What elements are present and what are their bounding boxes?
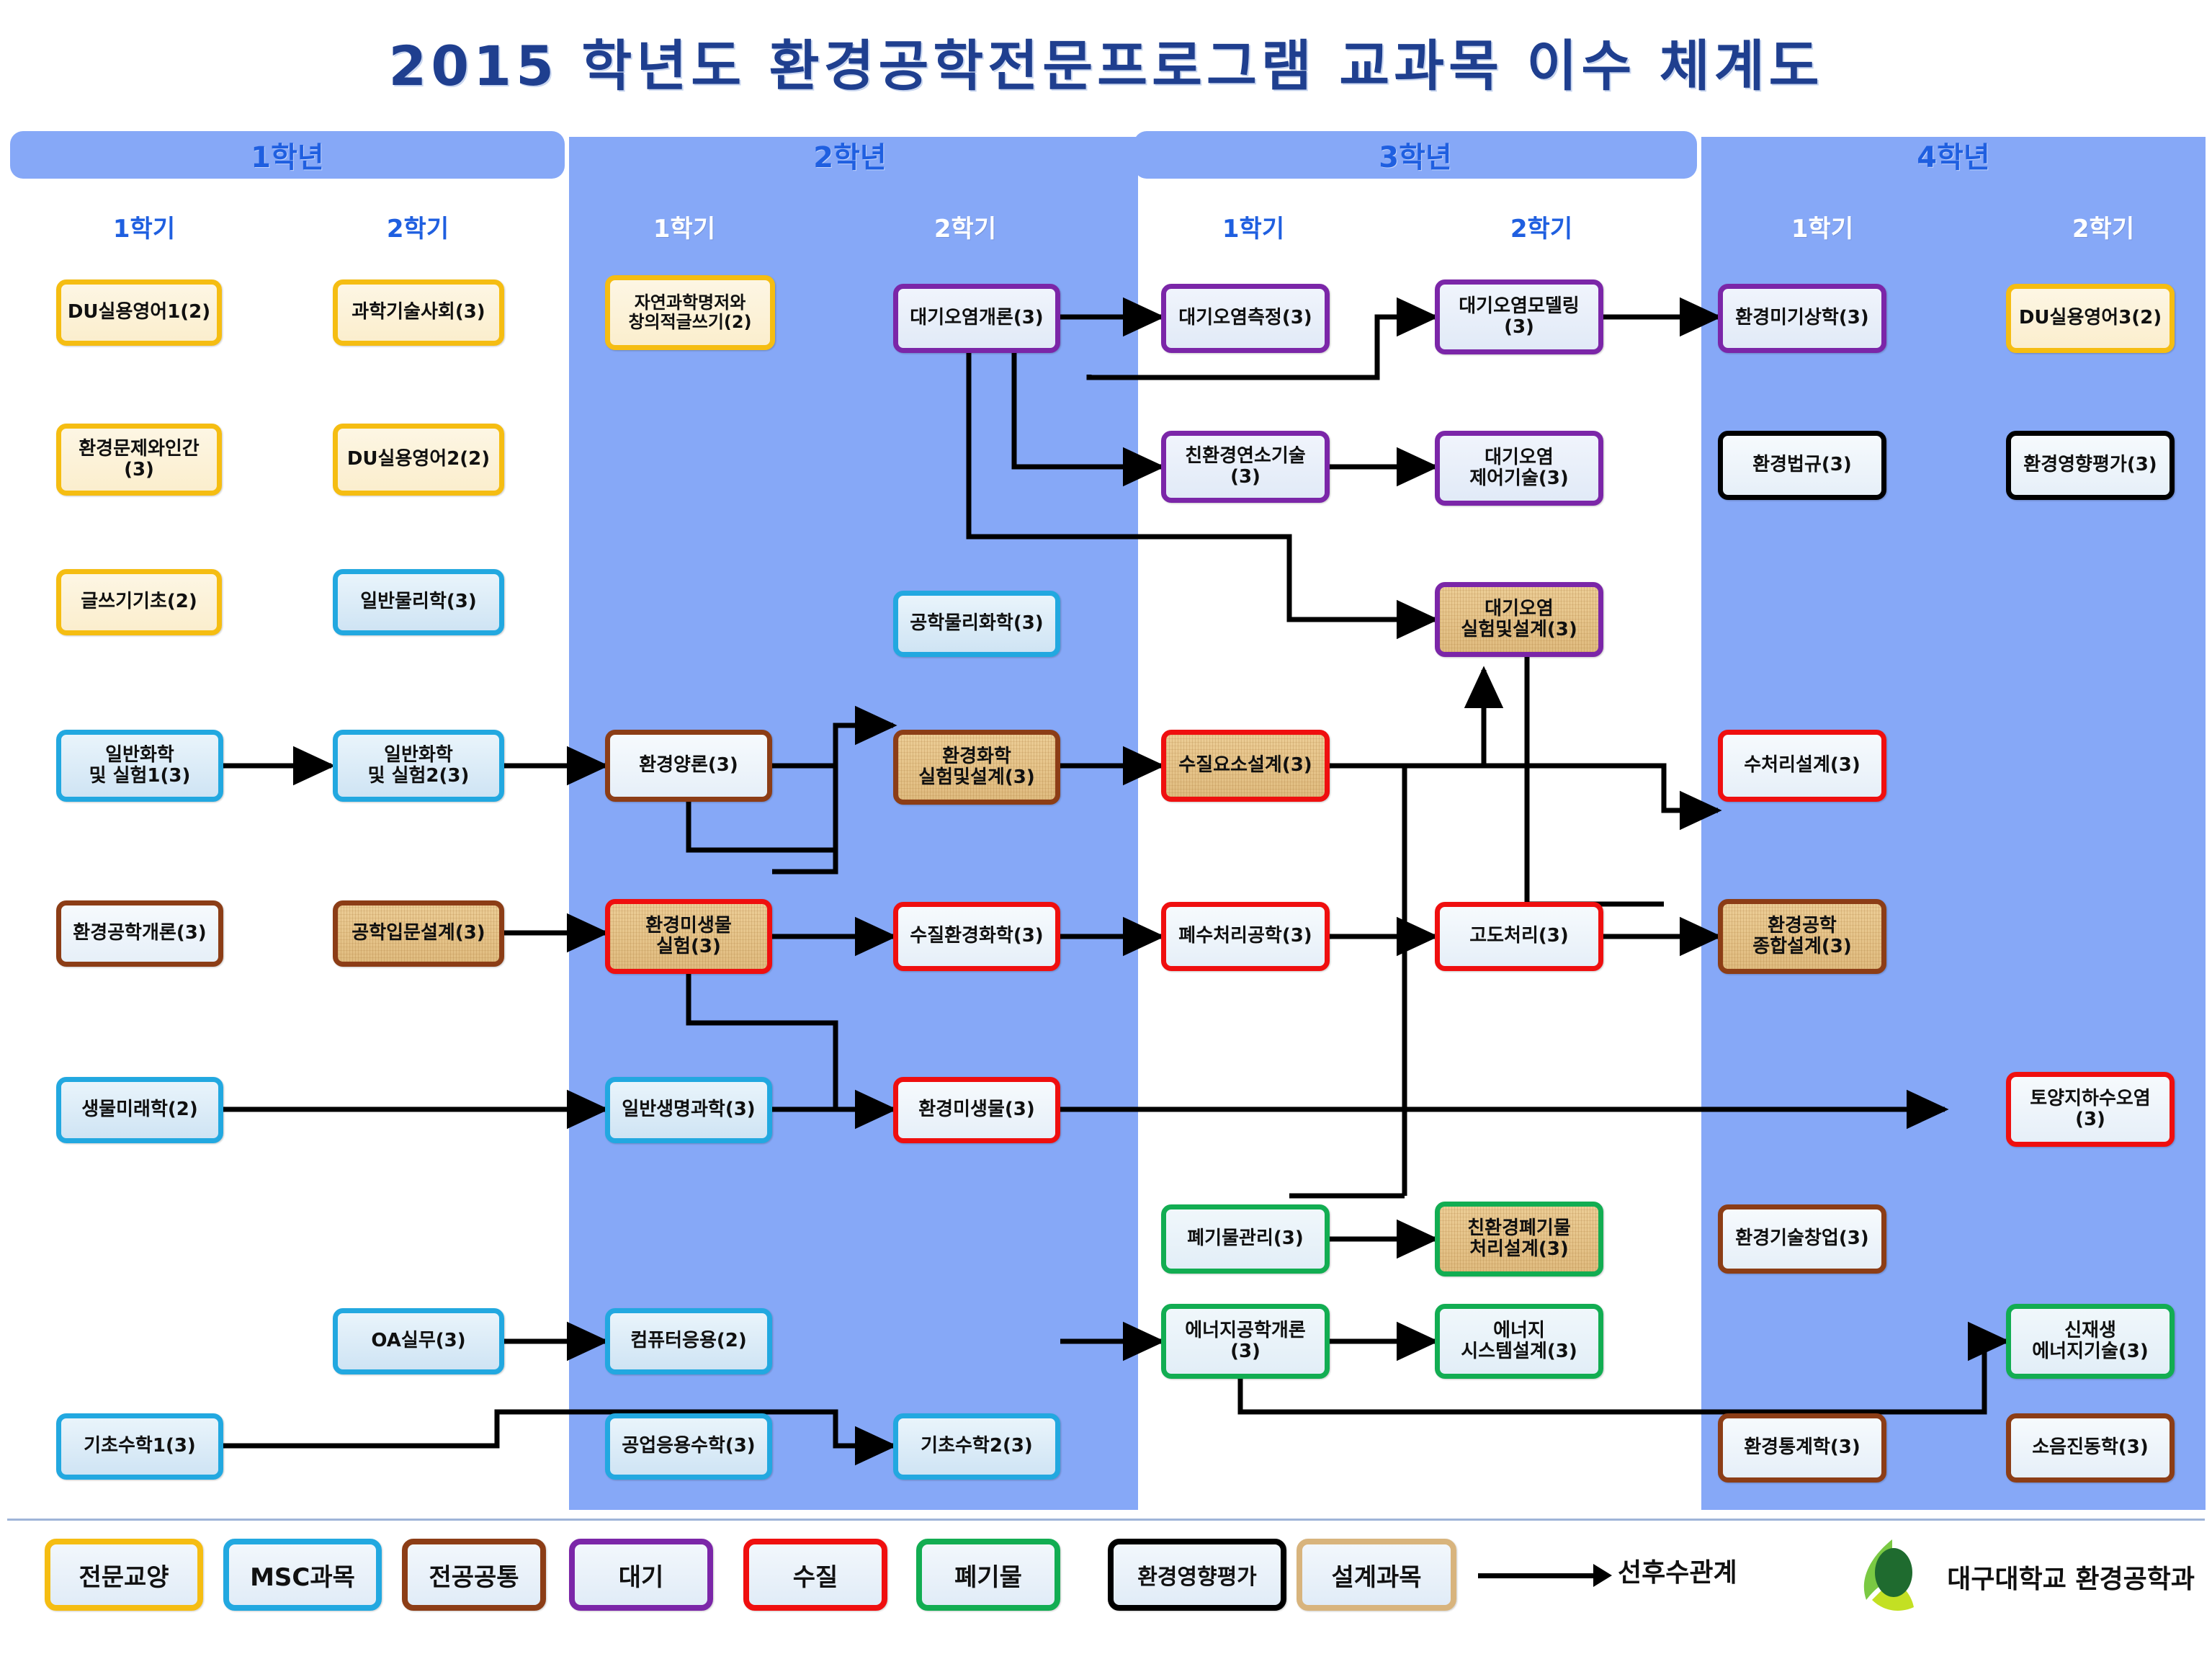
year-header-2: 2학년 [569,131,1131,179]
legend-chip-waste[interactable]: 폐기물 [916,1539,1060,1611]
course-box-water-treatment-design[interactable]: 수처리설계(3) [1718,730,1886,802]
year-header-3-label: 3학년 [1379,134,1451,176]
semester-label-y1s1-text: 1학기 [113,215,175,243]
course-box-intro-engineering-design[interactable]: 공학입문설계(3) [333,900,504,967]
course-label: 에너지공학개론 (3) [1185,1320,1305,1362]
course-box-advanced-treatment[interactable]: 고도처리(3) [1435,902,1603,971]
course-label: 환경미기상학(3) [1735,308,1868,328]
course-label: 수질환경화학(3) [910,926,1043,947]
year-header-4-label: 4학년 [1917,134,1989,176]
course-box-air-pollution-control-technology[interactable]: 대기오염 제어기술(3) [1435,431,1603,506]
course-label: 생물미래학(2) [81,1099,197,1120]
course-label: 고도처리(3) [1469,926,1569,947]
legend: 전문교양 MSC과목 전공공통 대기 수질 폐기물 환경영향평가 설계과목 선후… [0,1533,2212,1648]
curriculum-flowchart-page: 2015 학년도 환경공학전문프로그램 교과목 이수 체계도 1학년 2학년 3… [0,0,2212,1659]
course-box-general-chemistry-lab-1[interactable]: 일반화학 및 실험1(3) [56,730,223,802]
course-box-env-microbiology[interactable]: 환경미생물(3) [893,1077,1060,1143]
course-box-natural-science-classics-writing[interactable]: 자연과학명저와 창의적글쓰기(2) [605,275,775,350]
semester-label-y1s2-text: 2학기 [387,215,449,243]
semester-label-y3s1: 1학기 [1145,209,1361,244]
course-label: 에너지 시스템설계(3) [1461,1320,1577,1362]
course-box-intro-air-pollution[interactable]: 대기오염개론(3) [893,284,1060,353]
semester-label-y2s2-text: 2학기 [934,215,996,243]
course-box-eco-combustion-technology[interactable]: 친환경연소기술 (3) [1161,431,1330,503]
course-label: 폐수처리공학(3) [1178,926,1312,947]
course-label: 일반화학 및 실험2(3) [368,745,470,787]
course-label: 환경화학 실험및설계(3) [918,746,1034,788]
course-label: 환경기술창업(3) [1735,1228,1868,1249]
course-label: 환경공학 종합설계(3) [1752,916,1852,957]
course-label: 환경영향평가(3) [2023,455,2157,475]
course-box-oa-practice[interactable]: OA실무(3) [333,1308,504,1374]
semester-label-y2s1-text: 1학기 [653,215,715,243]
course-label: 소음진동학(3) [2032,1437,2148,1458]
semester-label-y4s1-text: 1학기 [1791,215,1853,243]
course-label: 신재생 에너지기술(3) [2032,1320,2148,1362]
legend-chip-water[interactable]: 수질 [743,1539,887,1611]
course-label: 대기오염모델링 (3) [1459,296,1579,338]
course-label: 친환경폐기물 처리설계(3) [1467,1218,1571,1260]
legend-divider [7,1519,2205,1521]
course-box-du-english-2[interactable]: DU실용영어2(2) [333,424,504,496]
semester-label-y1s2: 2학기 [310,209,526,244]
year-header-2-label: 2학년 [813,134,886,176]
course-label: 환경공학개론(3) [73,923,206,944]
year-header-3: 3학년 [1134,131,1697,179]
brand-label: 대구대학교 환경공학과 [1947,1558,2195,1596]
course-box-air-pollution-measurement[interactable]: 대기오염측정(3) [1161,284,1330,353]
semester-label-y2s2: 2학기 [857,209,1073,244]
course-box-basic-math-2[interactable]: 기초수학2(3) [893,1413,1060,1480]
semester-label-y3s1-text: 1학기 [1222,215,1284,243]
course-box-waste-management[interactable]: 폐기물관리(3) [1161,1204,1330,1274]
course-box-biology-future[interactable]: 생물미래학(2) [56,1077,223,1143]
course-label: 일반화학 및 실험1(3) [89,745,191,787]
semester-label-y2s1: 1학기 [576,209,792,244]
semester-label-y3s2: 2학기 [1433,209,1649,244]
course-label: 컴퓨터응용(2) [630,1331,746,1351]
course-box-general-life-science[interactable]: 일반생명과학(3) [605,1077,772,1143]
legend-chip-label: 수질 [793,1557,838,1593]
course-box-du-english-1[interactable]: DU실용영어1(2) [56,280,222,346]
legend-arrow-head-icon [1593,1564,1612,1587]
legend-chip-label: 전공공통 [429,1557,519,1593]
course-label: 폐기물관리(3) [1187,1228,1303,1249]
course-box-du-english-3[interactable]: DU실용영어3(2) [2006,284,2175,353]
course-box-general-chemistry-lab-2[interactable]: 일반화학 및 실험2(3) [333,730,504,802]
course-box-env-engineering-capstone-design[interactable]: 환경공학 종합설계(3) [1718,899,1886,974]
course-label: 공학물리화학(3) [910,613,1043,634]
page-title: 2015 학년도 환경공학전문프로그램 교과목 이수 체계도 [0,22,2212,101]
course-box-intro-env-engineering[interactable]: 환경공학개론(3) [56,900,223,967]
daegu-university-logo-icon [1848,1538,1934,1616]
course-label: DU실용영어2(2) [347,449,490,470]
course-box-energy-system-design[interactable]: 에너지 시스템설계(3) [1435,1304,1603,1379]
course-label: 대기오염 실험및설계(3) [1461,599,1577,640]
semester-label-y4s1: 1학기 [1714,209,1930,244]
course-label: 환경통계학(3) [1744,1437,1860,1458]
legend-chip-design-course[interactable]: 설계과목 [1297,1539,1456,1611]
course-box-soil-groundwater-pollution[interactable]: 토양지하수오염 (3) [2006,1072,2175,1147]
semester-label-y1s1: 1학기 [36,209,252,244]
course-label: 과학기술사회(3) [351,302,485,323]
course-label: 대기오염개론(3) [910,308,1043,328]
course-label: 글쓰기기초(2) [81,591,197,612]
semester-label-y4s2-text: 2학기 [2072,215,2134,243]
course-label: 환경법규(3) [1752,455,1852,475]
year-header-1-label: 1학년 [251,134,323,176]
legend-chip-label: 환경영향평가 [1137,1559,1257,1591]
course-box-eco-waste-treatment-design[interactable]: 친환경폐기물 처리설계(3) [1435,1202,1603,1276]
legend-chip-label: 대기 [619,1557,664,1593]
course-label: 환경문제와인간 (3) [79,439,199,480]
course-label: 기초수학1(3) [84,1436,196,1457]
course-label: 환경미생물 실험(3) [645,916,732,957]
course-box-env-microbiology-lab[interactable]: 환경미생물 실험(3) [605,899,772,974]
legend-chip-liberal-arts[interactable]: 전문교양 [45,1539,203,1611]
legend-chip-msc[interactable]: MSC과목 [223,1539,382,1611]
course-box-science-tech-society[interactable]: 과학기술사회(3) [333,280,504,346]
course-label: 대기오염 제어기술(3) [1469,447,1569,489]
course-label: OA실무(3) [371,1331,465,1351]
course-box-env-law[interactable]: 환경법규(3) [1718,431,1886,500]
course-box-engineering-applied-math[interactable]: 공업응용수학(3) [605,1413,772,1480]
course-box-env-problems-humans[interactable]: 환경문제와인간 (3) [56,424,222,496]
legend-arrow-line [1478,1573,1595,1578]
year-header-4: 4학년 [1701,131,2206,179]
course-label: 친환경연소기술 (3) [1185,446,1305,488]
course-box-basic-math-1[interactable]: 기초수학1(3) [56,1413,223,1480]
course-box-env-micrometeorology[interactable]: 환경미기상학(3) [1718,284,1886,353]
course-label: 토양지하수오염 (3) [2030,1088,2150,1130]
legend-chip-label: MSC과목 [250,1557,355,1593]
course-label: 일반생명과학(3) [622,1099,755,1120]
legend-chip-label: 전문교양 [79,1557,169,1593]
course-label: 환경양론(3) [639,755,738,776]
course-box-env-chemistry-lab-design[interactable]: 환경화학 실험및설계(3) [893,730,1060,805]
course-box-water-quality-unit-design[interactable]: 수질요소설계(3) [1161,730,1330,802]
course-label: 수처리설계(3) [1744,755,1860,776]
legend-chip-label: 폐기물 [954,1557,1022,1593]
course-box-air-pollution-modeling[interactable]: 대기오염모델링 (3) [1435,280,1603,354]
legend-arrow-label: 선후수관계 [1618,1552,1737,1589]
course-box-env-statistics[interactable]: 환경통계학(3) [1718,1413,1886,1483]
course-box-renewable-energy-technology[interactable]: 신재생 에너지기술(3) [2006,1304,2175,1379]
semester-label-y4s2: 2학기 [1995,209,2211,244]
course-box-intro-energy-engineering[interactable]: 에너지공학개론 (3) [1161,1304,1330,1379]
course-box-wastewater-treatment-engineering[interactable]: 폐수처리공학(3) [1161,902,1330,971]
university-brand: 대구대학교 환경공학과 [1848,1537,2195,1616]
course-box-env-impact-assessment[interactable]: 환경영향평가(3) [2006,431,2175,500]
course-box-air-pollution-lab-design[interactable]: 대기오염 실험및설계(3) [1435,582,1603,657]
legend-chip-label: 설계과목 [1331,1557,1421,1593]
course-label: 자연과학명저와 창의적글쓰기(2) [628,293,751,332]
course-label: DU실용영어1(2) [68,302,210,323]
course-box-water-env-chemistry[interactable]: 수질환경화학(3) [893,902,1060,971]
course-box-noise-vibration[interactable]: 소음진동학(3) [2006,1413,2175,1483]
course-box-env-stoichiometry[interactable]: 환경양론(3) [605,730,772,802]
course-box-writing-basics[interactable]: 글쓰기기초(2) [56,569,222,635]
course-label: DU실용영어3(2) [2019,308,2162,328]
course-label: 공업응용수학(3) [622,1436,755,1457]
course-box-general-physics[interactable]: 일반물리학(3) [333,569,504,635]
course-label: 수질요소설계(3) [1178,755,1312,776]
semester-label-y3s2-text: 2학기 [1510,215,1572,243]
course-label: 기초수학2(3) [921,1436,1033,1457]
course-label: 공학입문설계(3) [351,923,485,944]
course-label: 대기오염측정(3) [1178,308,1312,328]
course-box-computer-applications[interactable]: 컴퓨터응용(2) [605,1308,772,1374]
course-label: 일반물리학(3) [360,591,476,612]
legend-chip-major-common[interactable]: 전공공통 [402,1539,546,1611]
legend-chip-air[interactable]: 대기 [569,1539,713,1611]
year-header-1: 1학년 [10,131,565,179]
course-label: 환경미생물(3) [918,1099,1034,1120]
course-box-engineering-physical-chemistry[interactable]: 공학물리화학(3) [893,591,1060,657]
legend-chip-eia[interactable]: 환경영향평가 [1108,1539,1286,1611]
course-box-env-tech-startup[interactable]: 환경기술창업(3) [1718,1204,1886,1274]
